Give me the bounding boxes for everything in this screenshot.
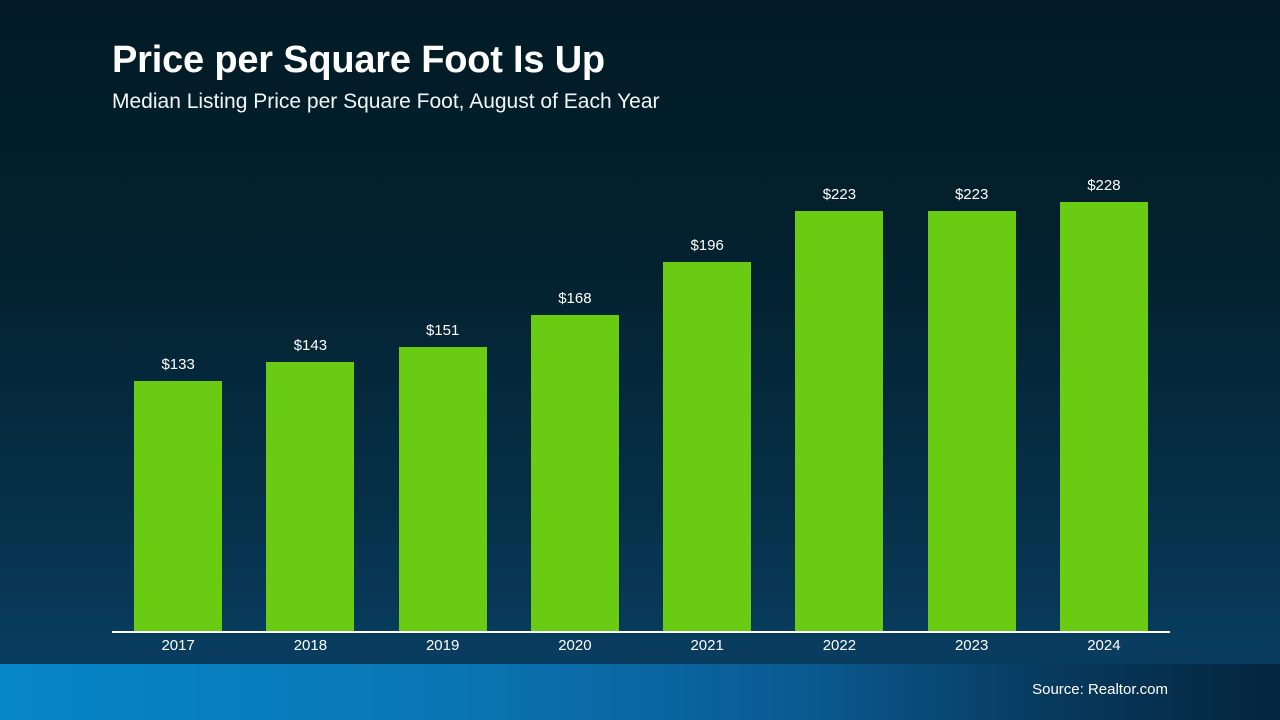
x-tick-label: 2017 (161, 637, 194, 654)
bar-slot: $223 2022 (773, 180, 905, 631)
bar[interactable] (1060, 202, 1148, 631)
bar[interactable] (266, 362, 354, 631)
bar-slot: $151 2019 (377, 180, 509, 631)
bar-value-label: $133 (161, 356, 194, 373)
source-attribution: Source: Realtor.com (1032, 681, 1168, 698)
bar-slot: $143 2018 (244, 180, 376, 631)
bar-value-label: $223 (823, 186, 856, 203)
bar-slot: $133 2017 (112, 180, 244, 631)
bar-value-label: $151 (426, 322, 459, 339)
bar-value-label: $223 (955, 186, 988, 203)
bar[interactable] (795, 211, 883, 631)
bar-slot: $168 2020 (509, 180, 641, 631)
x-tick-label: 2018 (294, 637, 327, 654)
x-tick-label: 2022 (823, 637, 856, 654)
slide-canvas: Price per Square Foot Is Up Median Listi… (0, 0, 1280, 720)
page-title: Price per Square Foot Is Up (112, 40, 1212, 82)
bar-value-label: $228 (1087, 177, 1120, 194)
bar-slot: $196 2021 (641, 180, 773, 631)
x-tick-label: 2023 (955, 637, 988, 654)
bar[interactable] (399, 347, 487, 631)
x-axis-line (112, 631, 1170, 633)
footer-bar: Source: Realtor.com (0, 664, 1280, 720)
bar-value-label: $196 (690, 237, 723, 254)
x-tick-label: 2021 (690, 637, 723, 654)
page-subtitle: Median Listing Price per Square Foot, Au… (112, 90, 1212, 114)
bar[interactable] (134, 381, 222, 631)
bar-slot: $228 2024 (1038, 180, 1170, 631)
bar[interactable] (663, 262, 751, 631)
x-tick-label: 2024 (1087, 637, 1120, 654)
plot-area: $133 2017 $143 2018 $151 2019 $168 2020 (112, 180, 1170, 633)
header: Price per Square Foot Is Up Median Listi… (112, 40, 1212, 114)
bar-chart: $133 2017 $143 2018 $151 2019 $168 2020 (112, 180, 1170, 635)
bar[interactable] (531, 315, 619, 631)
bar-value-label: $168 (558, 290, 591, 307)
bar-value-label: $143 (294, 337, 327, 354)
bar-slot: $223 2023 (906, 180, 1038, 631)
x-tick-label: 2019 (426, 637, 459, 654)
x-tick-label: 2020 (558, 637, 591, 654)
bar[interactable] (928, 211, 1016, 631)
